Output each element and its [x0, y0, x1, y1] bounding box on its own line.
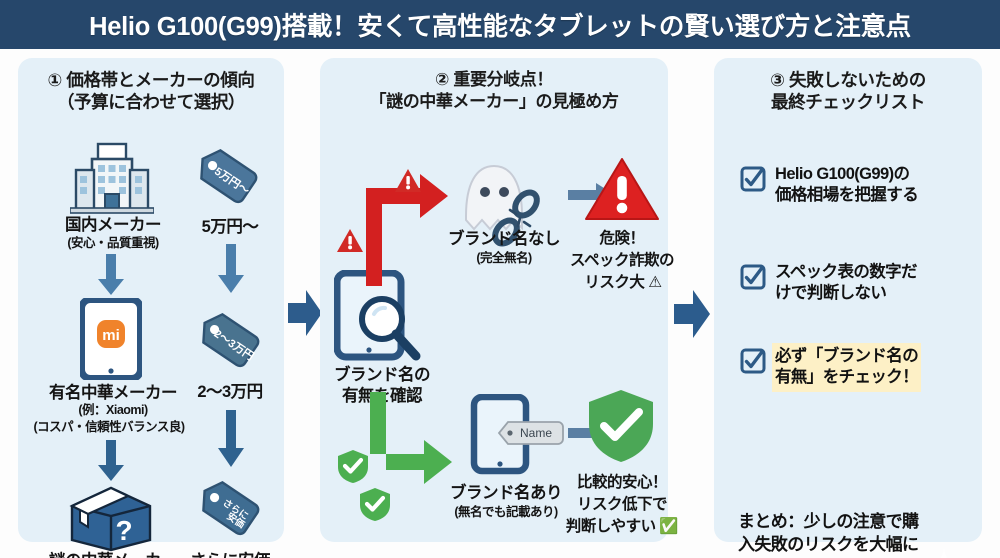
connector-arrow-1 — [288, 290, 322, 341]
outcome-yes-line3: 判断しやすい ✅ — [564, 518, 680, 537]
panel1-title: ① 価格帯とメーカーの傾向 （予算に合わせて選択） — [18, 69, 284, 114]
label-price-cheaper: さらに安価 — [176, 552, 284, 558]
label-price-5man: 5万円〜 — [176, 218, 284, 238]
tablet-name-label-icon: Name — [460, 394, 570, 481]
price-tag-icon-3: さらに 安価 — [192, 476, 268, 557]
page-title: Helio G100(G99)搭載！安くて高性能なタブレットの賢い選び方と注意点 — [89, 6, 911, 43]
panel2-title-line2: 「謎の中華メーカー」の見極め方 — [320, 91, 668, 113]
outcome-no-line3: リスク大 ⚠ — [568, 274, 678, 293]
panel-price-range: ① 価格帯とメーカーの傾向 （予算に合わせて選択） 国内 — [18, 58, 284, 542]
header-bar: Helio G100(G99)搭載！安くて高性能なタブレットの賢い選び方と注意点 — [0, 0, 1000, 49]
price-tag-icon-1: 5万円〜 — [190, 144, 266, 225]
tablet-name-text: Name — [520, 426, 552, 440]
checklist-item-1-text: Helio G100(G99)の 価格相場を把握する — [775, 164, 918, 207]
checkbox-checked-icon-1[interactable] — [740, 166, 766, 197]
checklist-item-1-line2: 価格相場を把握する — [775, 185, 918, 206]
down-arrow-2 — [96, 440, 126, 487]
svg-text:mi: mi — [102, 327, 120, 344]
panel-decision-point: ② 重要分岐点！ 「謎の中華メーカー」の見極め方 ブランド名の 有無を確認 — [320, 58, 668, 542]
checkbox-checked-icon-2[interactable] — [740, 264, 766, 295]
label-check-brand-line1: ブランド名の — [320, 366, 444, 386]
sublabel-domestic-maker: (安心・品質重視) — [18, 236, 208, 251]
checklist-item-3-line1: 必ず「ブランド名の — [775, 346, 918, 367]
warning-triangle-icon-small-2 — [394, 168, 422, 199]
checklist-item-1[interactable]: Helio G100(G99)の 価格相場を把握する — [740, 164, 970, 207]
checklist-item-3-text: 必ず「ブランド名の 有無」をチェック！ — [775, 346, 918, 389]
label-price-2-3man: 2〜3万円 — [176, 383, 284, 403]
sublabel2-famous-chinese-maker: (コスパ・信頼性バランス良) — [14, 420, 204, 435]
shield-check-icon-small-1 — [336, 448, 370, 489]
panel2-title: ② 重要分岐点！ 「謎の中華メーカー」の見極め方 — [320, 69, 668, 113]
infographic-root: Helio G100(G99)搭載！安くて高性能なタブレットの賢い選び方と注意点… — [0, 0, 1000, 558]
checklist-item-1-line1: Helio G100(G99)の — [775, 164, 918, 185]
warning-triangle-icon-small-1 — [336, 228, 364, 259]
checklist-item-3-line2: 有無」をチェック！ — [775, 367, 918, 388]
connector-arrow-2 — [674, 290, 710, 343]
panel3-title: ③ 失敗しないための 最終チェックリスト — [714, 69, 982, 114]
down-arrow-3 — [216, 244, 246, 299]
outcome-yes-line2: リスク低下で — [566, 496, 678, 515]
sublabel-no-brand: (完全無名) — [438, 251, 570, 266]
checklist-item-2-line1: スペック表の数字だ — [775, 262, 917, 283]
shield-check-large-icon — [586, 388, 656, 469]
svg-text:?: ? — [115, 515, 132, 546]
sublabel-has-brand: (無名でも記載あり) — [434, 505, 578, 520]
mystery-box-question-icon: ? — [68, 484, 154, 557]
panel3-title-line1: ③ 失敗しないための — [714, 69, 982, 91]
checklist-item-2-line2: けで判断しない — [775, 283, 917, 304]
sparkle-icon — [924, 546, 964, 558]
sublabel-famous-chinese-maker: (例：Xiaomi) — [18, 403, 208, 418]
price-tag-icon-2: 2〜3万円 — [192, 308, 268, 389]
panel-checklist: ③ 失敗しないための 最終チェックリスト Helio G100(G99)の 価格… — [714, 58, 982, 542]
panel1-title-line1: ① 価格帯とメーカーの傾向 — [18, 69, 284, 91]
shield-check-icon-small-2 — [358, 486, 392, 527]
checkbox-checked-icon-3[interactable] — [740, 348, 766, 379]
checklist-item-2-text: スペック表の数字だ けで判断しない — [775, 262, 917, 305]
tablet-xiaomi-logo-icon: mi — [80, 298, 142, 385]
checklist-item-3[interactable]: 必ず「ブランド名の 有無」をチェック！ — [740, 346, 974, 389]
label-no-brand: ブランド名なし — [438, 230, 570, 250]
panel3-title-line2: 最終チェックリスト — [714, 91, 982, 113]
outcome-no-line1: 危険！ — [572, 230, 672, 249]
panel2-title-line1: ② 重要分岐点！ — [320, 69, 668, 91]
panel1-title-line2: （予算に合わせて選択） — [18, 91, 284, 113]
checklist-item-2[interactable]: スペック表の数字だ けで判断しない — [740, 262, 970, 305]
down-arrow-1 — [96, 254, 126, 301]
label-has-brand: ブランド名あり — [438, 484, 574, 504]
outcome-yes-line1: 比較的安心！ — [566, 474, 678, 493]
summary-line1: まとめ：少しの注意で購 — [738, 510, 982, 533]
outcome-no-line2: スペック詐欺の — [564, 252, 680, 271]
danger-triangle-icon — [584, 156, 660, 229]
down-arrow-4 — [216, 410, 246, 473]
office-building-icon — [70, 142, 154, 219]
